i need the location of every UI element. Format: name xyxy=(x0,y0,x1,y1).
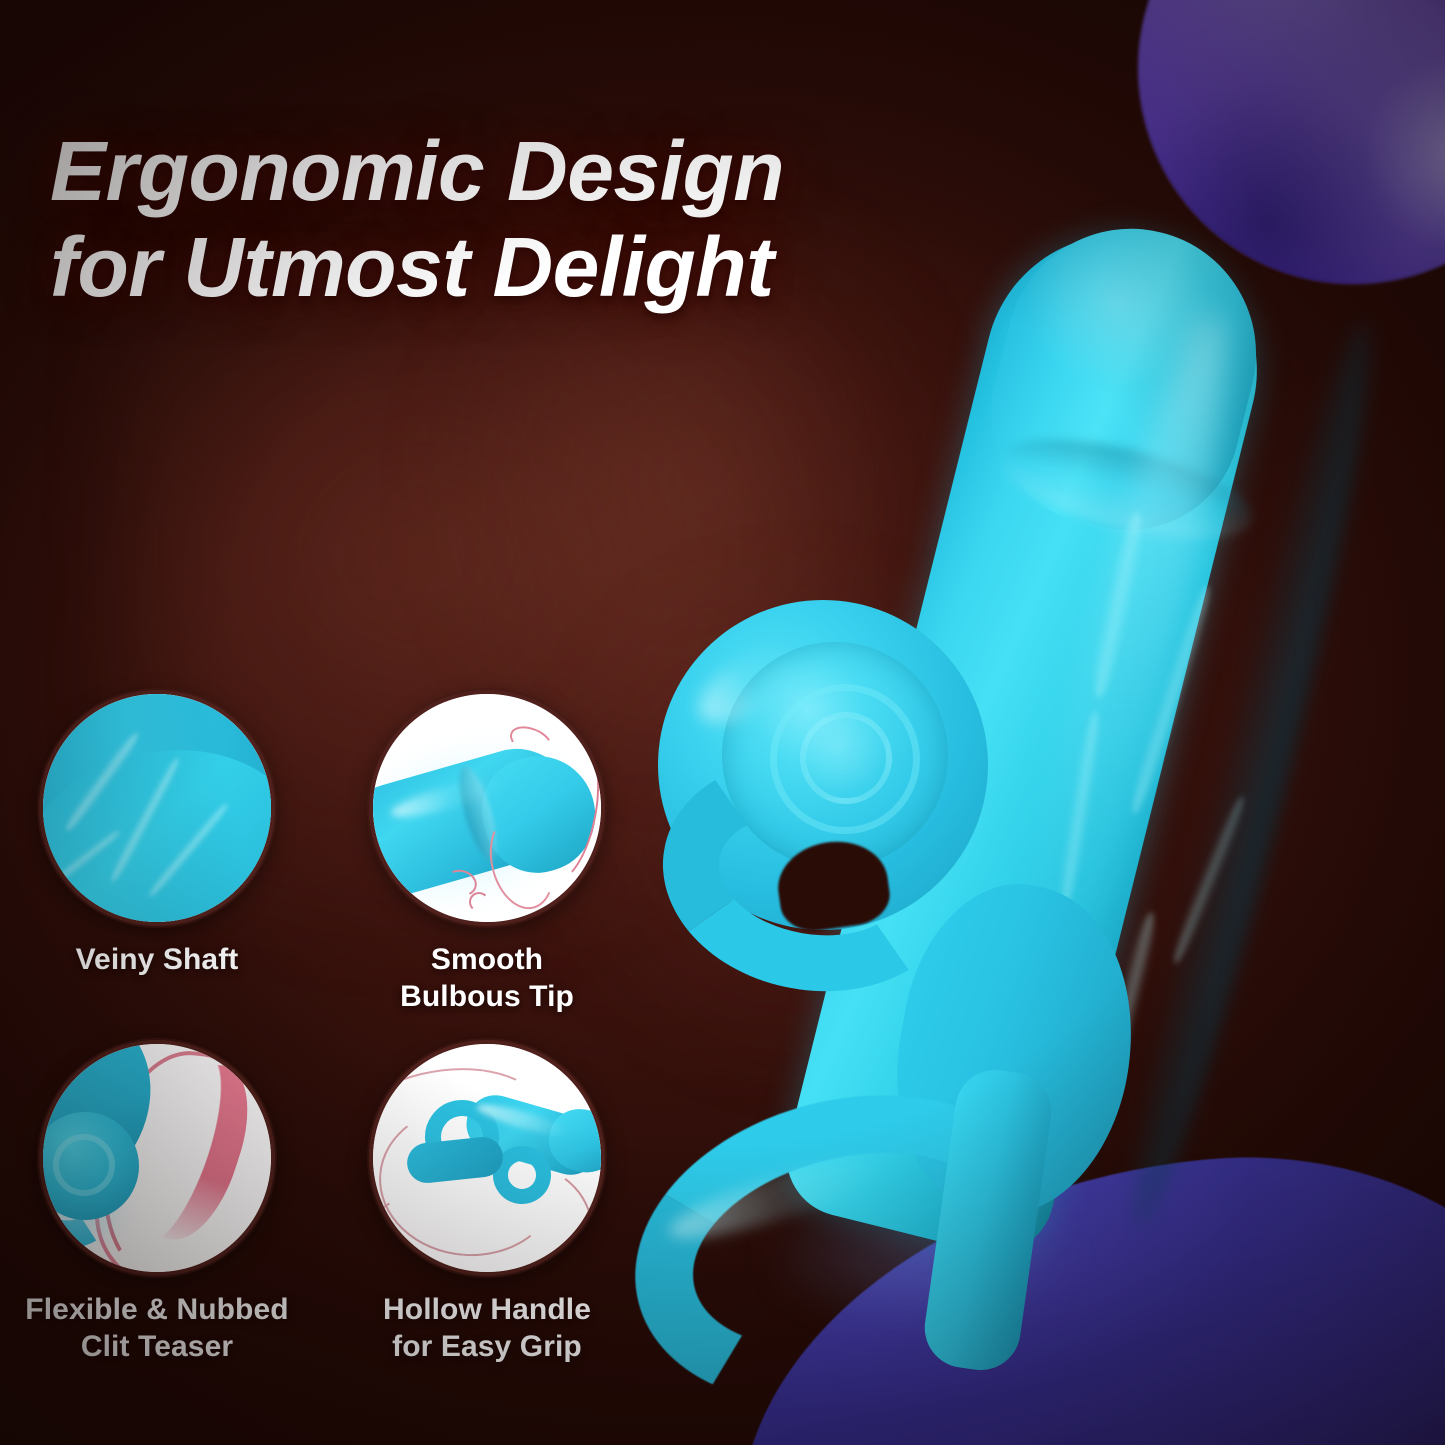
vignette-overlay xyxy=(0,0,1445,1445)
product-feature-graphic: Ergonomic Design for Utmost Delight Vein… xyxy=(0,0,1445,1445)
